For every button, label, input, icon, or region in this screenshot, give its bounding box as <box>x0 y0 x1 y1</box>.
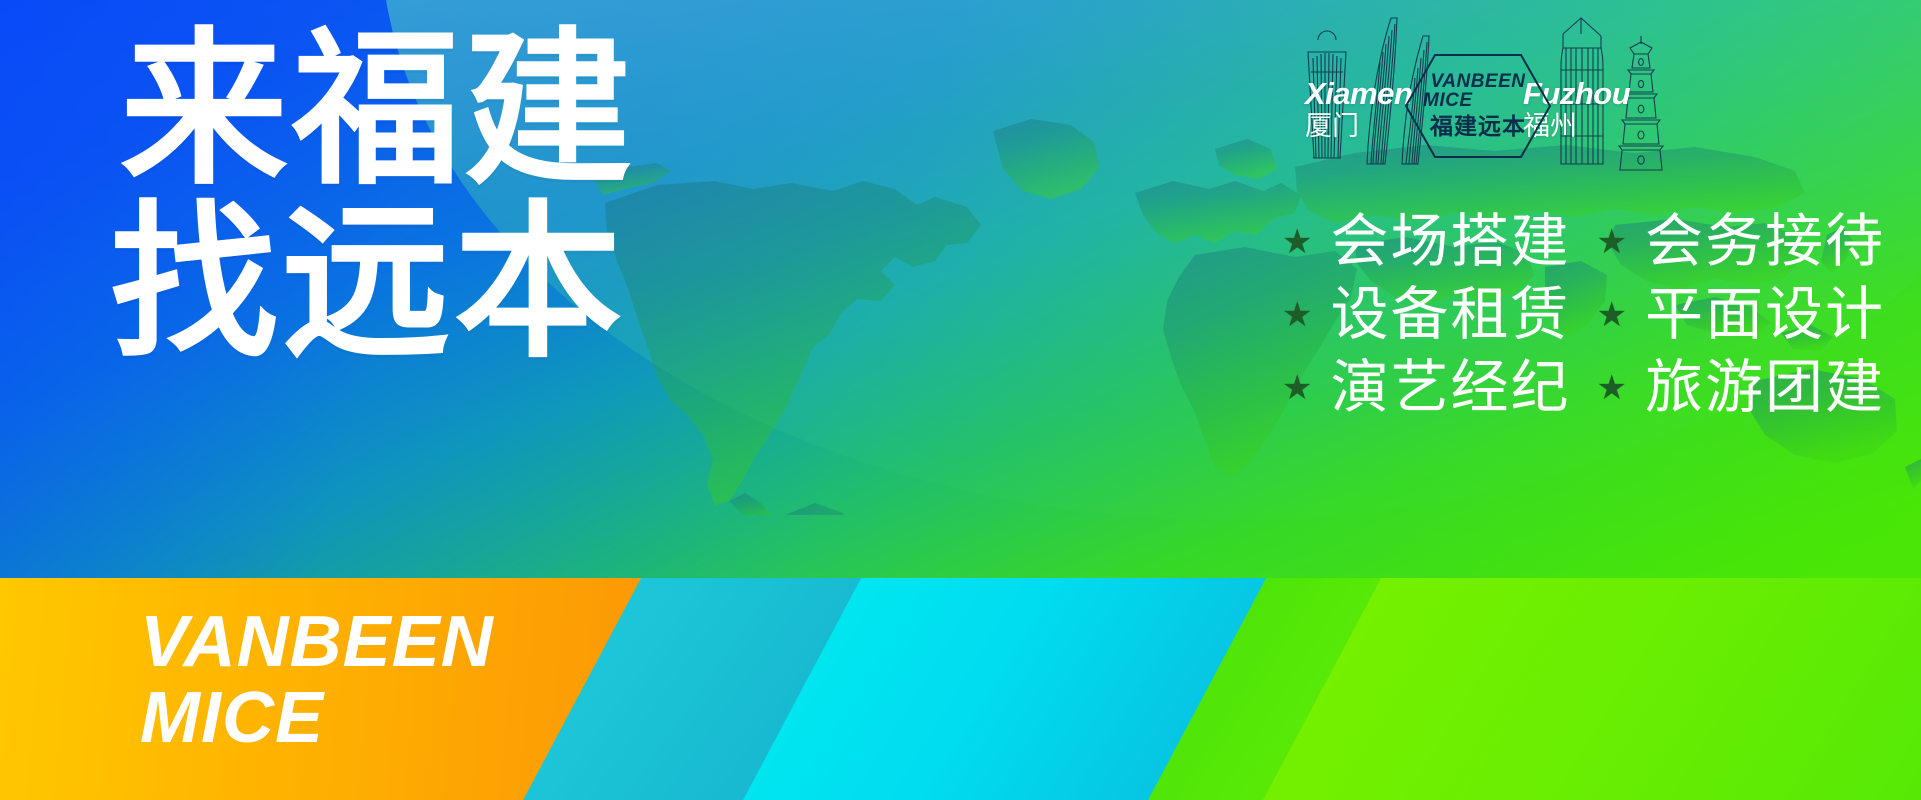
headline: 来福建 找远本 <box>120 28 740 365</box>
logo-cluster: Xiamen 厦门 Fuzhou 福州 VANBEEN MICE 福建远本 <box>1305 8 1705 178</box>
brand-badge-text: VANBEEN MICE 福建远本 <box>1403 52 1553 160</box>
service-item: ★ 平面设计 <box>1597 283 1886 348</box>
service-label: 会务接待 <box>1645 210 1885 275</box>
city-name-en: Xiamen <box>1305 78 1412 109</box>
services-row: ★ 演艺经纪 ★ 旅游团建 <box>1282 356 1885 421</box>
star-icon: ★ <box>1282 298 1312 332</box>
service-label: 平面设计 <box>1645 283 1885 348</box>
brand-en-line-2: MICE <box>1423 91 1473 111</box>
promo-banner: 来福建 找远本 ★ 会场搭建 ★ 会务接待 ★ 设备租赁 ★ 平面设计 <box>0 0 1921 800</box>
bottom-brand-logo: VANBEEN MICE <box>140 608 494 753</box>
star-icon: ★ <box>1282 225 1312 259</box>
star-icon: ★ <box>1597 225 1627 259</box>
service-item: ★ 会场搭建 <box>1282 210 1571 275</box>
service-label: 设备租赁 <box>1330 283 1570 348</box>
bottom-brand-line-2: MICE <box>140 684 494 752</box>
star-icon: ★ <box>1597 371 1627 405</box>
services-list: ★ 会场搭建 ★ 会务接待 ★ 设备租赁 ★ 平面设计 ★ 演艺经纪 <box>1282 210 1885 421</box>
service-label: 旅游团建 <box>1645 356 1885 421</box>
bottom-bar: VANBEEN MICE <box>0 578 1921 800</box>
brand-cn-name: 福建远本 <box>1430 113 1526 139</box>
bottom-brand-line-1: VANBEEN <box>140 608 494 676</box>
service-item: ★ 旅游团建 <box>1597 356 1886 421</box>
service-label: 演艺经纪 <box>1330 356 1570 421</box>
star-icon: ★ <box>1597 298 1627 332</box>
services-row: ★ 会场搭建 ★ 会务接待 <box>1282 210 1885 275</box>
city-label-xiamen: Xiamen 厦门 <box>1305 78 1412 142</box>
headline-line-2: 找远本 <box>110 201 740 366</box>
brand-en-line-1: VANBEEN <box>1431 72 1526 91</box>
star-icon: ★ <box>1282 371 1312 405</box>
services-row: ★ 设备租赁 ★ 平面设计 <box>1282 283 1885 348</box>
service-label: 会场搭建 <box>1330 210 1570 275</box>
service-item: ★ 设备租赁 <box>1282 283 1571 348</box>
city-name-cn: 厦门 <box>1305 112 1412 142</box>
service-item: ★ 会务接待 <box>1597 210 1886 275</box>
service-item: ★ 演艺经纪 <box>1282 356 1571 421</box>
brand-hexagon-badge: VANBEEN MICE 福建远本 <box>1403 52 1553 160</box>
headline-line-1: 来福建 <box>120 28 740 193</box>
